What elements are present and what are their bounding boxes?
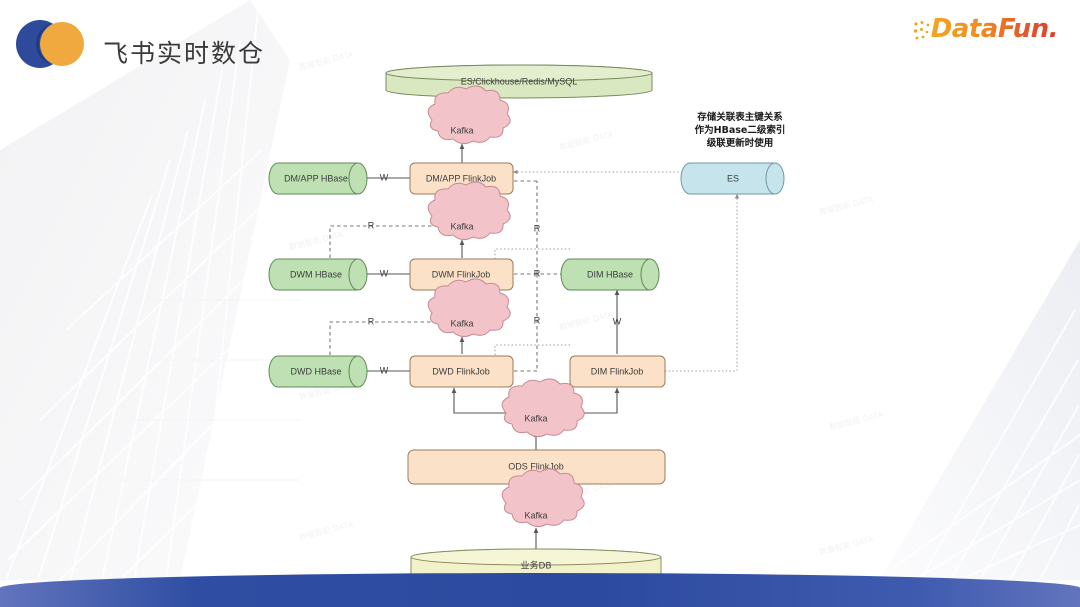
edge-label-w-dwm: W — [380, 268, 389, 278]
node-dwd-flinkjob[interactable]: DWD FlinkJob — [410, 356, 513, 387]
es-annotation-line-2: 作为HBase二级索引 — [695, 124, 786, 136]
node-es[interactable]: ES — [681, 163, 784, 194]
es-annotation-line-3: 级联更新时使用 — [706, 137, 774, 149]
node-label-dim-flinkjob: DIM FlinkJob — [591, 366, 644, 376]
node-dim-hbase[interactable]: DIM HBase — [561, 259, 659, 290]
node-label-kafka-source: Kafka — [524, 510, 547, 520]
node-label-dwm-hbase: DWM HBase — [290, 269, 342, 279]
node-dmapp-hbase[interactable]: DM/APP HBase — [269, 163, 367, 194]
es-annotation-line-1: 存储关联表主键关系 — [696, 111, 783, 123]
node-kafka-source[interactable]: Kafka — [502, 469, 584, 527]
edge-label-r-bus-top: R — [534, 223, 541, 233]
edge-label-w-dmapp: W — [380, 172, 389, 182]
architecture-diagram: 数据智能 DATA 数据智能 DATA 数据智能 DATA 数据智能 DATA … — [0, 0, 1080, 607]
node-kafka-top[interactable]: Kafka — [428, 86, 510, 144]
svg-text:数据智能 DATA: 数据智能 DATA — [298, 519, 354, 542]
node-label-dwd-flinkjob: DWD FlinkJob — [432, 366, 490, 376]
node-label-dmapp-flinkjob: DM/APP FlinkJob — [426, 173, 496, 183]
footer-bar — [0, 573, 1080, 607]
svg-text:数据智能 DATA: 数据智能 DATA — [818, 194, 874, 217]
node-kafka-dwd[interactable]: Kafka — [428, 279, 510, 337]
svg-text:数据智能 DATA: 数据智能 DATA — [818, 534, 874, 557]
node-dwm-hbase[interactable]: DWM HBase — [269, 259, 367, 290]
svg-text:数据智能 DATA: 数据智能 DATA — [558, 309, 614, 332]
node-label-kafka-ods: Kafka — [524, 413, 547, 423]
node-label-source-db: 业务DB — [520, 560, 551, 572]
svg-text:数据智能 DATA: 数据智能 DATA — [558, 129, 614, 152]
edge-label-r-bus-mid: R — [534, 268, 541, 278]
edge-dwmhbase-dmappjob-r — [330, 197, 441, 258]
edge-label-r-dmapp: R — [368, 220, 375, 230]
node-label-dim-hbase: DIM HBase — [587, 269, 633, 279]
edge-dimjob-es — [665, 194, 737, 371]
svg-text:数据智能 DATA: 数据智能 DATA — [828, 409, 884, 432]
node-dwd-hbase[interactable]: DWD HBase — [269, 356, 367, 387]
node-sink[interactable]: ES/Clickhouse/Redis/MySQL — [386, 65, 652, 98]
node-label-kafka-dwm: Kafka — [450, 221, 473, 231]
edge-dwdhbase-dwmjob-r — [330, 293, 441, 355]
svg-text:数据智能 DATA: 数据智能 DATA — [288, 229, 344, 252]
node-label-es: ES — [727, 173, 739, 183]
node-label-kafka-top: Kafka — [450, 125, 473, 135]
node-label-dmapp-hbase: DM/APP HBase — [284, 173, 348, 183]
node-label-dwd-hbase: DWD HBase — [290, 366, 341, 376]
svg-text:数据智能 DATA: 数据智能 DATA — [298, 49, 354, 72]
node-kafka-ods[interactable]: Kafka — [502, 379, 584, 437]
es-annotation: 存储关联表主键关系 作为HBase二级索引 级联更新时使用 — [695, 111, 786, 149]
node-dim-flinkjob[interactable]: DIM FlinkJob — [570, 356, 665, 387]
slide-canvas: 飞书实时数仓 DataFun. 数据智能 DATA — [0, 0, 1080, 607]
edge-kafka-dwd — [454, 388, 508, 413]
edge-label-w-dwd: W — [380, 365, 389, 375]
node-label-kafka-dwd: Kafka — [450, 318, 473, 328]
edge-label-r-bus-bot: R — [534, 315, 541, 325]
node-kafka-dwm[interactable]: Kafka — [428, 182, 510, 240]
node-label-dwm-flinkjob: DWM FlinkJob — [432, 269, 491, 279]
edge-label-r-dwm: R — [368, 316, 375, 326]
node-label-sink: ES/Clickhouse/Redis/MySQL — [461, 76, 578, 86]
